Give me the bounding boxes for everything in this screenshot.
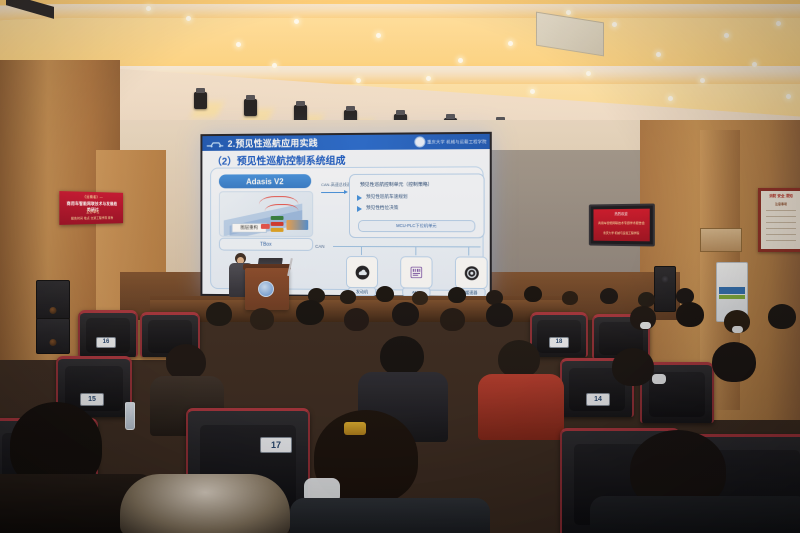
control-unit-box: 预见性巡航控制单元（控制策略） 预见性巡航车速规划 预见性档位决策 MCU-PL… xyxy=(349,173,485,238)
audience-head xyxy=(206,302,232,326)
foreground-person-center xyxy=(300,406,490,533)
fur-collar xyxy=(120,474,290,533)
control-unit-bullet: 预见性巡航车速规划 xyxy=(366,194,408,200)
foreground-person-fur xyxy=(120,470,290,533)
adasis-header-box: Adasis V2 xyxy=(219,174,311,188)
audience-head xyxy=(676,302,704,327)
slide-heading: 2.预见性巡航应用实践 xyxy=(228,136,318,150)
audience-head xyxy=(250,308,274,330)
truck-icon xyxy=(206,140,223,148)
notice-board-heading: 消防 安全 须知 xyxy=(764,194,798,199)
adasis-label: Adasis V2 xyxy=(246,177,284,186)
banner-sub-line: 主办单位 xyxy=(65,210,118,215)
audience-head xyxy=(380,336,424,376)
seat-number: 17 xyxy=(260,437,292,453)
audience-head xyxy=(768,304,796,329)
slide-org-logo-text: 重庆大学 机械与运载工程学院 xyxy=(427,138,487,144)
slide-title-bar: 2.预见性巡航应用实践 重庆大学 机械与运载工程学院 xyxy=(202,134,489,151)
red-banner-left: 《运输者》— 商用车智能网联技术与发展趋势研讨 主办单位 报告时间 地点 交通工… xyxy=(59,191,123,225)
control-unit-heading: 预见性巡航控制单元（控制策略） xyxy=(360,181,433,188)
audience-head xyxy=(612,348,654,386)
gearbox-icon xyxy=(409,265,424,280)
notice-board: 消防 安全 须知 注意事项 xyxy=(758,188,800,252)
audience-head xyxy=(486,303,513,327)
audience-head xyxy=(296,300,324,325)
engine-icon xyxy=(354,265,369,280)
side-display-line1: 热烈欢迎 xyxy=(595,211,647,216)
hair-clip xyxy=(344,422,366,435)
audience-head xyxy=(440,308,465,331)
banner-top-line: 《运输者》— xyxy=(65,194,118,200)
foreground-person-right xyxy=(600,430,800,533)
audience-head xyxy=(392,302,419,326)
stage-light xyxy=(244,99,257,116)
can-bus-label: CAN xyxy=(315,244,324,249)
face-mask xyxy=(652,374,666,384)
foreground-shoulders xyxy=(590,496,800,533)
slide-org-logo: 重庆大学 机械与运载工程学院 xyxy=(414,136,487,148)
mcu-unit-box: MCU-PLC下位机单元 xyxy=(358,220,475,232)
university-emblem xyxy=(258,281,274,297)
retarder-icon xyxy=(464,265,479,280)
audience-head xyxy=(344,308,369,331)
side-display-line2: 商用车智能网联技术专题学术报告会 xyxy=(595,221,647,225)
wall-poster-right xyxy=(700,228,742,252)
side-display-screen: 热烈欢迎 商用车智能网联技术专题学术报告会 重庆大学 机械与运载工程学院 xyxy=(589,203,655,246)
audience-head xyxy=(498,340,540,378)
audience-head xyxy=(712,342,756,382)
tbox-module: TBox xyxy=(219,238,313,251)
tbox-label: TBox xyxy=(260,241,271,247)
university-seal-icon xyxy=(414,136,425,147)
stage-light xyxy=(194,92,207,109)
map-layer-illustration: 图层重构 xyxy=(219,191,313,237)
side-display-content: 热烈欢迎 商用车智能网联技术专题学术报告会 重庆大学 机械与运载工程学院 xyxy=(593,209,649,242)
conference-hall-photo: 2.预见性巡航应用实践 重庆大学 机械与运载工程学院 （2）预见性巡航控制系统组… xyxy=(0,0,800,533)
notice-board-subheading: 注意事项 xyxy=(764,202,798,206)
banner-footer-line: 报告时间 地点 交通工程学院 报告 xyxy=(65,216,118,221)
side-display-line3: 重庆大学 机械与运载工程学院 xyxy=(595,231,647,235)
control-unit-bullet: 预见性档位决策 xyxy=(366,205,398,211)
audience-head xyxy=(166,344,206,380)
foreground-shoulders xyxy=(290,498,490,533)
face-mask xyxy=(640,322,651,329)
slide-subtitle: （2）预见性巡航控制系统组成 xyxy=(212,152,345,168)
